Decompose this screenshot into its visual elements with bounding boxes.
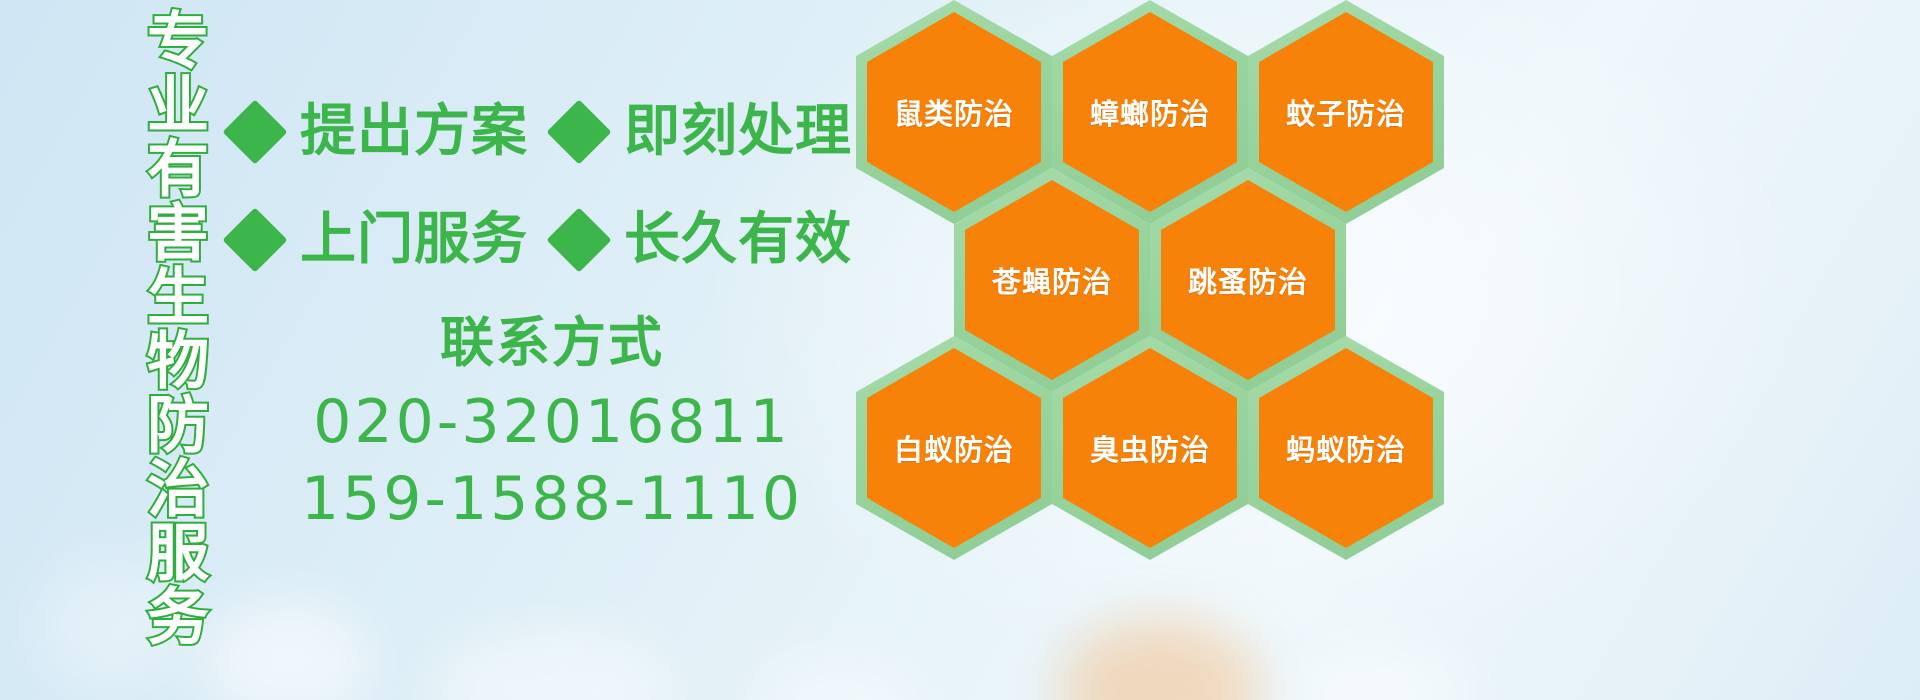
- hex-label: 苍蝇防治: [992, 259, 1112, 301]
- feature-row: 提出方案 即刻处理: [232, 78, 872, 186]
- service-honeycomb: 鼠类防治 蟑螂防治 蚊子防治 苍蝇防治 跳蚤防治: [856, 0, 1456, 554]
- background-bokeh-blob: [1290, 640, 1470, 700]
- feature-label: 上门服务: [300, 212, 528, 268]
- hex-label: 蟑螂防治: [1090, 91, 1210, 133]
- background-bokeh-blob: [1060, 620, 1260, 700]
- background-bokeh-blob: [430, 630, 670, 700]
- phone-number-mobile[interactable]: 159-1588-1110: [232, 461, 872, 538]
- vertical-headline: 专业有害生物防治服务: [108, 8, 204, 648]
- hex-cell-bedbug-control[interactable]: 臭虫防治: [1052, 336, 1248, 560]
- phone-number-landline[interactable]: 020-32016811: [232, 384, 872, 461]
- hex-label: 蚂蚁防治: [1286, 427, 1406, 469]
- hex-label: 鼠类防治: [894, 91, 1014, 133]
- feature-label: 长久有效: [624, 212, 852, 268]
- hex-label: 蚊子防治: [1286, 91, 1406, 133]
- feature-label: 提出方案: [300, 104, 528, 160]
- hex-label: 跳蚤防治: [1188, 259, 1308, 301]
- contact-title: 联系方式: [232, 312, 872, 374]
- feature-item-immediate-handling: 即刻处理: [556, 104, 852, 160]
- diamond-bullet-icon: [546, 99, 611, 164]
- contact-block: 联系方式 020-32016811 159-1588-1110: [232, 312, 872, 538]
- feature-list: 提出方案 即刻处理 上门服务 长久有效: [232, 78, 872, 294]
- feature-item-propose-plan: 提出方案: [232, 104, 528, 160]
- hex-label: 白蚁防治: [894, 427, 1014, 469]
- diamond-bullet-icon: [546, 207, 611, 272]
- feature-item-door-to-door-service: 上门服务: [232, 212, 528, 268]
- background-bokeh-blob: [760, 660, 920, 700]
- hex-cell-termite-control[interactable]: 白蚁防治: [856, 336, 1052, 560]
- pest-control-service-banner: 专业有害生物防治服务 提出方案 即刻处理 上门服务 长久有效: [0, 0, 1920, 700]
- feature-item-long-lasting-effect: 长久有效: [556, 212, 852, 268]
- feature-row: 上门服务 长久有效: [232, 186, 872, 294]
- feature-label: 即刻处理: [624, 104, 852, 160]
- diamond-bullet-icon: [222, 99, 287, 164]
- hex-cell-ant-control[interactable]: 蚂蚁防治: [1248, 336, 1444, 560]
- diamond-bullet-icon: [222, 207, 287, 272]
- hex-label: 臭虫防治: [1090, 427, 1210, 469]
- background-bokeh-blob: [200, 600, 370, 700]
